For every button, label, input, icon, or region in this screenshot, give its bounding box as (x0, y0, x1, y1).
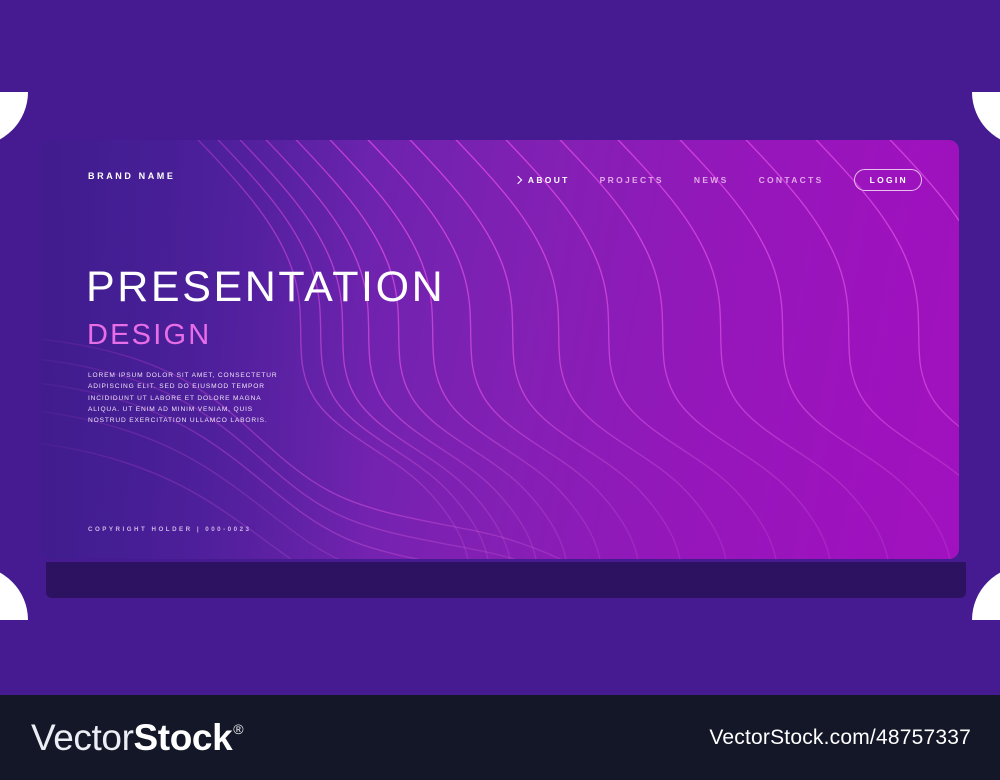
decorative-corner-top-left (0, 92, 28, 146)
decorative-corner-bottom-right (972, 566, 1000, 620)
registered-trademark-icon: ® (233, 722, 243, 736)
nav-item-news[interactable]: NEWS (694, 175, 729, 185)
brand-name: BRAND NAME (88, 171, 176, 181)
nav-item-about[interactable]: ABOUT (515, 175, 570, 185)
card-content: BRAND NAME ABOUT PROJECTS NEWS CONTACTS … (41, 140, 959, 559)
nav-item-projects[interactable]: PROJECTS (600, 175, 664, 185)
nav-item-about-label: ABOUT (528, 175, 570, 185)
decorative-corner-top-right (972, 92, 1000, 146)
screenshot-stage: BRAND NAME ABOUT PROJECTS NEWS CONTACTS … (0, 0, 1000, 780)
chevron-right-icon (514, 175, 522, 183)
decorative-corner-bottom-left (0, 566, 28, 620)
login-button[interactable]: LOGIN (854, 169, 922, 191)
vectorstock-logo-bold: Stock (134, 719, 233, 756)
hero-subtitle: DESIGN (87, 321, 211, 350)
hero-title: PRESENTATION (86, 266, 445, 309)
nav-item-contacts[interactable]: CONTACTS (759, 175, 824, 185)
copyright-line: COPYRIGHT HOLDER | 000-0023 (88, 526, 251, 533)
main-navigation: ABOUT PROJECTS NEWS CONTACTS LOGIN (515, 169, 922, 191)
vectorstock-watermark-bar: VectorStock® VectorStock.com/48757337 (0, 695, 1000, 780)
card-shadow-plate (46, 562, 966, 598)
vectorstock-logo-light: Vector (31, 719, 134, 756)
vectorstock-logo: VectorStock® (31, 719, 243, 756)
hero-paragraph: Lorem ipsum dolor sit amet, consectetur … (88, 370, 293, 427)
vectorstock-url: VectorStock.com/48757337 (709, 726, 971, 750)
hero-card: BRAND NAME ABOUT PROJECTS NEWS CONTACTS … (41, 140, 959, 559)
